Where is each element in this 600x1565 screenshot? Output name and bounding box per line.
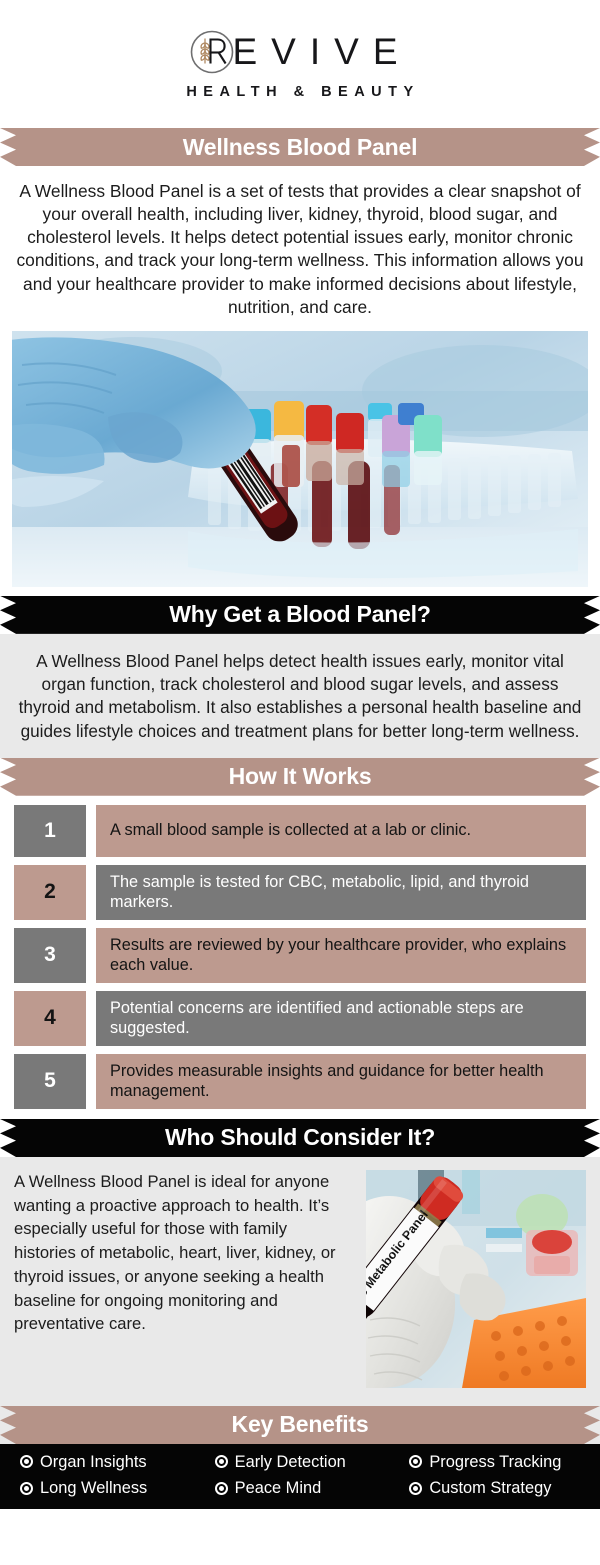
bullet-icon — [409, 1482, 422, 1495]
banner-why-get-a-blood-panel: Why Get a Blood Panel? — [0, 596, 600, 634]
step-number: 5 — [14, 1054, 86, 1109]
how-it-works-steps: 1 A small blood sample is collected at a… — [0, 796, 600, 1119]
benefit-label: Early Detection — [235, 1453, 346, 1471]
step-row: 3 Results are reviewed by your healthcar… — [14, 928, 586, 983]
who-section: A Wellness Blood Panel is ideal for anyo… — [0, 1157, 600, 1402]
benefit-item: Long Wellness — [8, 1479, 203, 1497]
brand-tagline: HEALTH & BEAUTY — [180, 84, 419, 100]
banner-title: Who Should Consider It? — [165, 1126, 435, 1149]
banner-title: Wellness Blood Panel — [183, 136, 418, 159]
step-text: Results are reviewed by your healthcare … — [96, 928, 586, 983]
infographic-page: EVIVE HEALTH & BEAUTY Wellness Blood Pan… — [0, 0, 600, 1565]
benefit-item: Custom Strategy — [397, 1479, 592, 1497]
banner-title: How It Works — [229, 765, 372, 788]
step-number: 3 — [14, 928, 86, 983]
step-number: 4 — [14, 991, 86, 1046]
benefit-item: Peace Mind — [203, 1479, 398, 1497]
logo-lockup: EVIVE — [189, 29, 412, 75]
bullet-icon — [20, 1482, 33, 1495]
brand-wordmark: EVIVE — [233, 33, 412, 70]
benefit-item: Organ Insights — [8, 1453, 203, 1471]
who-paragraph: A Wellness Blood Panel is ideal for anyo… — [14, 1170, 352, 1336]
step-number: 2 — [14, 865, 86, 920]
banner-who-should-consider-it: Who Should Consider It? — [0, 1119, 600, 1157]
benefit-item: Progress Tracking — [397, 1453, 592, 1471]
bullet-icon — [215, 1482, 228, 1495]
step-text: The sample is tested for CBC, metabolic,… — [96, 865, 586, 920]
banner-title: Why Get a Blood Panel? — [169, 603, 430, 626]
step-text: Provides measurable insights and guidanc… — [96, 1054, 586, 1109]
who-photo-metabolic-panel-tube: Basic Metabolic Panel — [366, 1170, 586, 1388]
intro-paragraph: A Wellness Blood Panel is a set of tests… — [0, 166, 600, 331]
benefits-band: Key Benefits — [0, 1402, 600, 1444]
step-number: 1 — [14, 805, 86, 857]
brand-header: EVIVE HEALTH & BEAUTY — [0, 0, 600, 128]
key-benefits-list: Organ Insights Early Detection Progress … — [0, 1444, 600, 1509]
step-row: 4 Potential concerns are identified and … — [14, 991, 586, 1046]
bullet-icon — [20, 1455, 33, 1468]
step-text: A small blood sample is collected at a l… — [96, 805, 586, 857]
bullet-icon — [215, 1455, 228, 1468]
why-paragraph: A Wellness Blood Panel helps detect heal… — [16, 650, 584, 743]
banner-wellness-blood-panel: Wellness Blood Panel — [0, 128, 600, 166]
bullet-icon — [409, 1455, 422, 1468]
banner-title: Key Benefits — [232, 1413, 369, 1436]
circled-r-wheat-logo-icon — [189, 29, 235, 75]
step-row: 1 A small blood sample is collected at a… — [14, 805, 586, 857]
step-row: 5 Provides measurable insights and guida… — [14, 1054, 586, 1109]
benefit-label: Long Wellness — [40, 1479, 147, 1497]
step-text: Potential concerns are identified and ac… — [96, 991, 586, 1046]
hero-photo-blood-tubes — [12, 331, 588, 587]
benefit-label: Progress Tracking — [429, 1453, 561, 1471]
benefit-label: Organ Insights — [40, 1453, 147, 1471]
benefit-label: Custom Strategy — [429, 1479, 551, 1497]
step-row: 2 The sample is tested for CBC, metaboli… — [14, 865, 586, 920]
benefit-item: Early Detection — [203, 1453, 398, 1471]
why-section: A Wellness Blood Panel helps detect heal… — [0, 634, 600, 758]
banner-how-it-works: How It Works — [0, 758, 600, 796]
benefit-label: Peace Mind — [235, 1479, 322, 1497]
banner-key-benefits: Key Benefits — [0, 1406, 600, 1444]
